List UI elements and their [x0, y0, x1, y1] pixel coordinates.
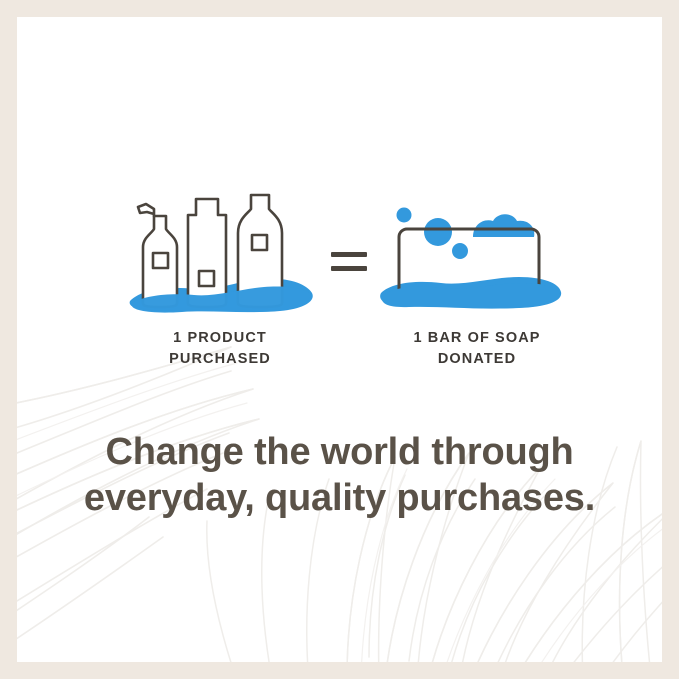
foam-cloud	[473, 214, 534, 237]
promo-graphic: 1 PRODUCT PURCHASED	[0, 0, 679, 679]
equals-sign-icon	[328, 243, 374, 283]
left-caption: 1 PRODUCT PURCHASED	[120, 328, 320, 370]
bar-of-soap-with-bubbles-icon	[377, 185, 577, 317]
equation-row: 1 PRODUCT PURCHASED	[17, 185, 662, 385]
equals-bar-bottom	[331, 266, 367, 271]
pump-bottle	[138, 204, 177, 307]
soap-donated-block: 1 BAR OF SOAP DONATED	[377, 185, 577, 370]
headline: Change the world through everyday, quali…	[17, 429, 662, 522]
left-caption-line-2: PURCHASED	[120, 349, 320, 370]
headline-line-1: Change the world through	[17, 429, 662, 475]
right-caption-line-2: DONATED	[377, 349, 577, 370]
bubble-small-left	[397, 208, 412, 223]
right-caption: 1 BAR OF SOAP DONATED	[377, 328, 577, 370]
bubble-small-lower	[452, 243, 468, 259]
three-bottles-icon	[120, 185, 320, 317]
inner-canvas: 1 PRODUCT PURCHASED	[17, 17, 662, 662]
equals-bar-top	[331, 252, 367, 257]
right-caption-line-1: 1 BAR OF SOAP	[377, 328, 577, 349]
square-bottle	[188, 199, 226, 307]
content-layer: 1 PRODUCT PURCHASED	[17, 17, 662, 662]
left-caption-line-1: 1 PRODUCT	[120, 328, 320, 349]
headline-line-2: everyday, quality purchases.	[17, 475, 662, 521]
bubble-large	[424, 218, 452, 246]
product-purchased-block: 1 PRODUCT PURCHASED	[120, 185, 320, 370]
